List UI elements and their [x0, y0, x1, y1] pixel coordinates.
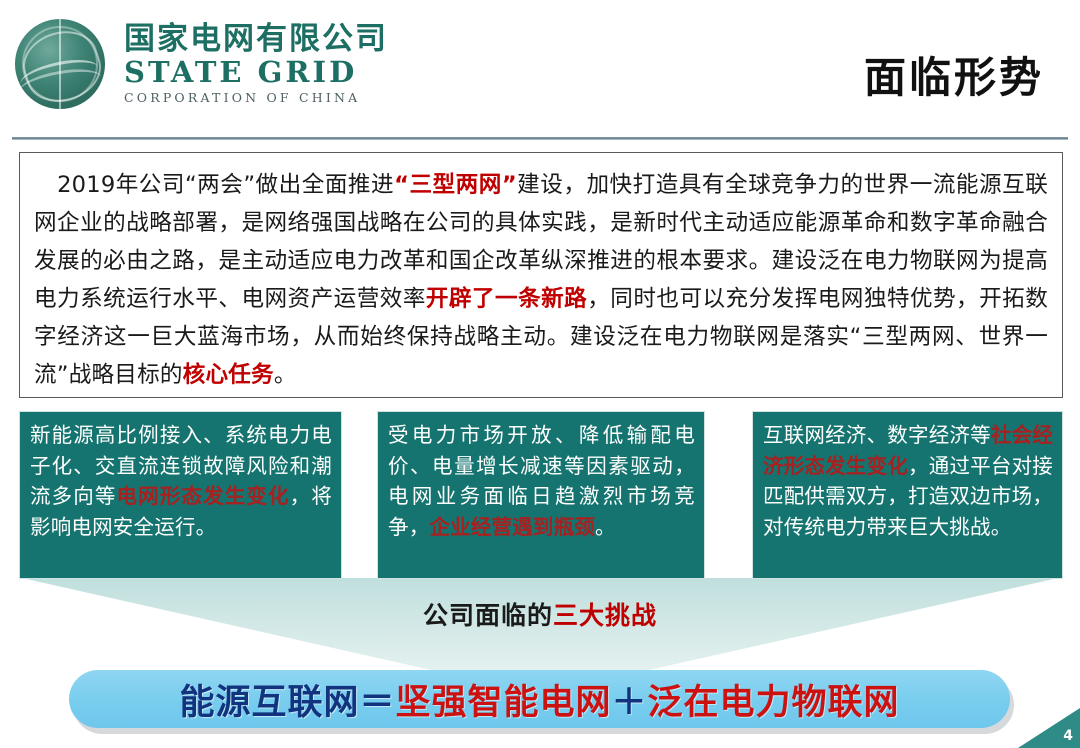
- challenge-box-2: 受电力市场开放、降低输配电价、电量增长减速等因素驱动，电网业务面临日趋激烈市场竞…: [377, 411, 705, 579]
- challenge-box-1: 新能源高比例接入、系统电力电子化、交直流连锁故障风险和潮流多向等电网形态发生变化…: [19, 411, 342, 579]
- page-number: 4: [1063, 728, 1073, 744]
- banner-part-2: 坚强智能电网: [395, 683, 611, 723]
- banner-operator-1: ＝: [359, 683, 395, 723]
- banner-operator-2: ＋: [612, 683, 648, 723]
- header-divider: [12, 137, 1068, 140]
- banner-part-3: 泛在电力物联网: [648, 683, 900, 723]
- logo-inner-ring: [22, 26, 98, 102]
- challenge-boxes-row: 新能源高比例接入、系统电力电子化、交直流连锁故障风险和潮流多向等电网形态发生变化…: [19, 411, 1063, 579]
- state-grid-globe-icon: [14, 18, 106, 110]
- brand-name-en: STATE GRID: [124, 57, 388, 89]
- slide-header: 国家电网有限公司 STATE GRID CORPORATION OF CHINA…: [0, 0, 1080, 138]
- challenge-box-3: 互联网经济、数字经济等社会经济形态发生变化，通过平台对接匹配供需双方，打造双边市…: [752, 411, 1063, 579]
- brand-logo: 国家电网有限公司 STATE GRID CORPORATION OF CHINA: [14, 18, 388, 110]
- summary-banner-text: 能源互联网＝坚强智能电网＋泛在电力物联网: [179, 674, 899, 725]
- challenge-caption-prefix: 公司面临的: [423, 601, 553, 630]
- logo-swoosh-upper: [18, 54, 101, 97]
- brand-name-cn: 国家电网有限公司: [124, 23, 388, 56]
- main-paragraph-text: 2019年公司“两会”做出全面推进“三型两网”建设，加快打造具有全球竞争力的世界…: [20, 153, 1062, 394]
- logo-swoosh-lower: [17, 64, 103, 105]
- page-number-corner: 4: [1018, 708, 1080, 748]
- page-title: 面临形势: [864, 44, 1044, 105]
- brand-name-en-sub: CORPORATION OF CHINA: [124, 90, 388, 105]
- challenge-caption-emphasis: 三大挑战: [553, 601, 657, 630]
- summary-banner: 能源互联网＝坚强智能电网＋泛在电力物联网: [69, 670, 1010, 728]
- brand-wordmark: 国家电网有限公司 STATE GRID CORPORATION OF CHINA: [124, 23, 388, 105]
- banner-part-1: 能源互联网: [179, 683, 359, 723]
- main-paragraph-box: 2019年公司“两会”做出全面推进“三型两网”建设，加快打造具有全球竞争力的世界…: [19, 152, 1063, 398]
- challenge-caption: 公司面临的三大挑战: [0, 596, 1080, 632]
